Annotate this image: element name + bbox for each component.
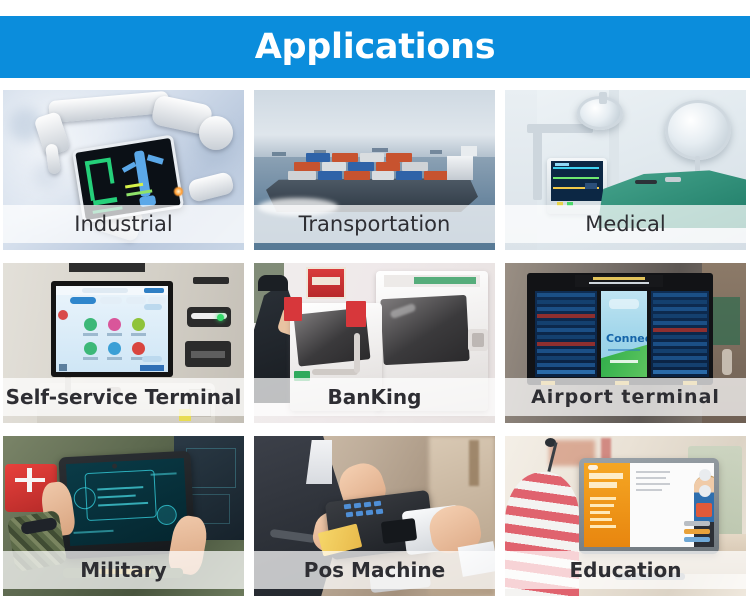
- tile-label-text: Medical: [585, 214, 665, 235]
- tile-label-text: Transportation: [299, 214, 451, 235]
- tile-label-band: Industrial: [3, 205, 244, 243]
- application-tile-education[interactable]: Education: [505, 436, 746, 596]
- tile-label-text: Self-service Terminal: [6, 387, 242, 407]
- tile-label-band: BanKing: [254, 378, 495, 416]
- page-title: Applications: [255, 30, 495, 65]
- tile-label-text: Pos Machine: [304, 560, 445, 580]
- application-tile-banking[interactable]: BanKing: [254, 263, 495, 423]
- tile-label-text: Airport terminal: [531, 388, 720, 407]
- applications-grid: Industrial: [3, 90, 747, 600]
- tile-label-band: Pos Machine: [254, 551, 495, 589]
- application-tile-pos-machine[interactable]: Pos Machine: [254, 436, 495, 596]
- surgical-light: [665, 100, 731, 160]
- tile-label-band: Medical: [505, 205, 746, 243]
- application-tile-airport-terminal[interactable]: Connect: [505, 263, 746, 423]
- application-tile-industrial[interactable]: Industrial: [3, 90, 244, 250]
- tile-label-band: Education: [505, 551, 746, 589]
- tile-label-band: Airport terminal: [505, 378, 746, 416]
- tile-label-band: Military: [3, 551, 244, 589]
- tile-label-text: Military: [80, 560, 166, 580]
- application-tile-self-service-terminal[interactable]: Self-service Terminal: [3, 263, 244, 423]
- tile-label-band: Self-service Terminal: [3, 378, 244, 416]
- application-tile-medical[interactable]: Medical: [505, 90, 746, 250]
- connect-advert-screen: Connect: [601, 291, 647, 377]
- applications-page: Applications: [0, 0, 750, 603]
- tile-label-text: Education: [570, 560, 682, 580]
- tile-label-text: Industrial: [74, 214, 173, 235]
- page-header-banner: Applications: [0, 16, 750, 78]
- connect-brand-text: Connect: [606, 332, 647, 345]
- flight-information-header: [575, 275, 663, 287]
- application-tile-transportation[interactable]: Transportation: [254, 90, 495, 250]
- tile-label-band: Transportation: [254, 205, 495, 243]
- application-tile-military[interactable]: Military: [3, 436, 244, 596]
- tile-label-text: BanKing: [328, 387, 422, 407]
